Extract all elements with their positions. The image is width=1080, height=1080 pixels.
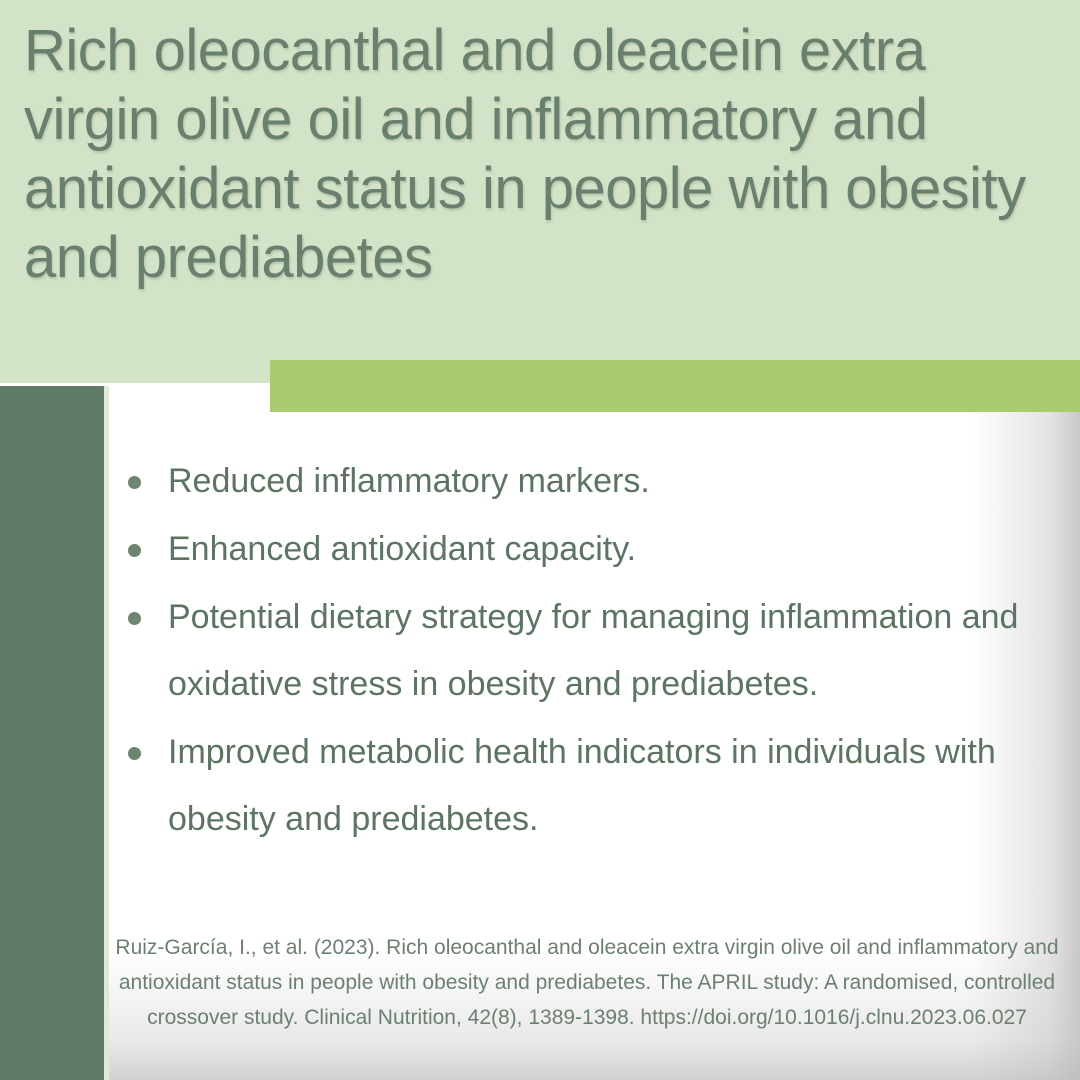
page-title: Rich oleocanthal and oleacein extra virg… [24, 16, 1064, 292]
list-item-label: Improved metabolic health indicators in … [168, 733, 996, 838]
key-findings-list: Reduced inflammatory markers. Enhanced a… [120, 448, 1030, 854]
citation-text: Ruiz-García, I., et al. (2023). Rich ole… [112, 930, 1062, 1035]
list-item: Enhanced antioxidant capacity. [120, 516, 1030, 583]
list-item-label: Potential dietary strategy for managing … [168, 598, 1018, 703]
bullet-dot-icon [128, 544, 141, 557]
bullet-dot-icon [128, 612, 141, 625]
accent-bar [270, 360, 1080, 412]
list-item: Reduced inflammatory markers. [120, 448, 1030, 515]
bullet-dot-icon [128, 747, 141, 760]
list-item-label: Reduced inflammatory markers. [168, 462, 650, 500]
list-item: Improved metabolic health indicators in … [120, 719, 1030, 853]
list-item-label: Enhanced antioxidant capacity. [168, 530, 636, 568]
sidebar-panel [0, 386, 104, 1080]
slide-canvas: Rich oleocanthal and oleacein extra virg… [0, 0, 1080, 1080]
list-item: Potential dietary strategy for managing … [120, 584, 1030, 718]
header-panel: Rich oleocanthal and oleacein extra virg… [0, 0, 1080, 383]
sidebar-edge-divider [104, 386, 109, 1080]
bullet-dot-icon [128, 476, 141, 489]
